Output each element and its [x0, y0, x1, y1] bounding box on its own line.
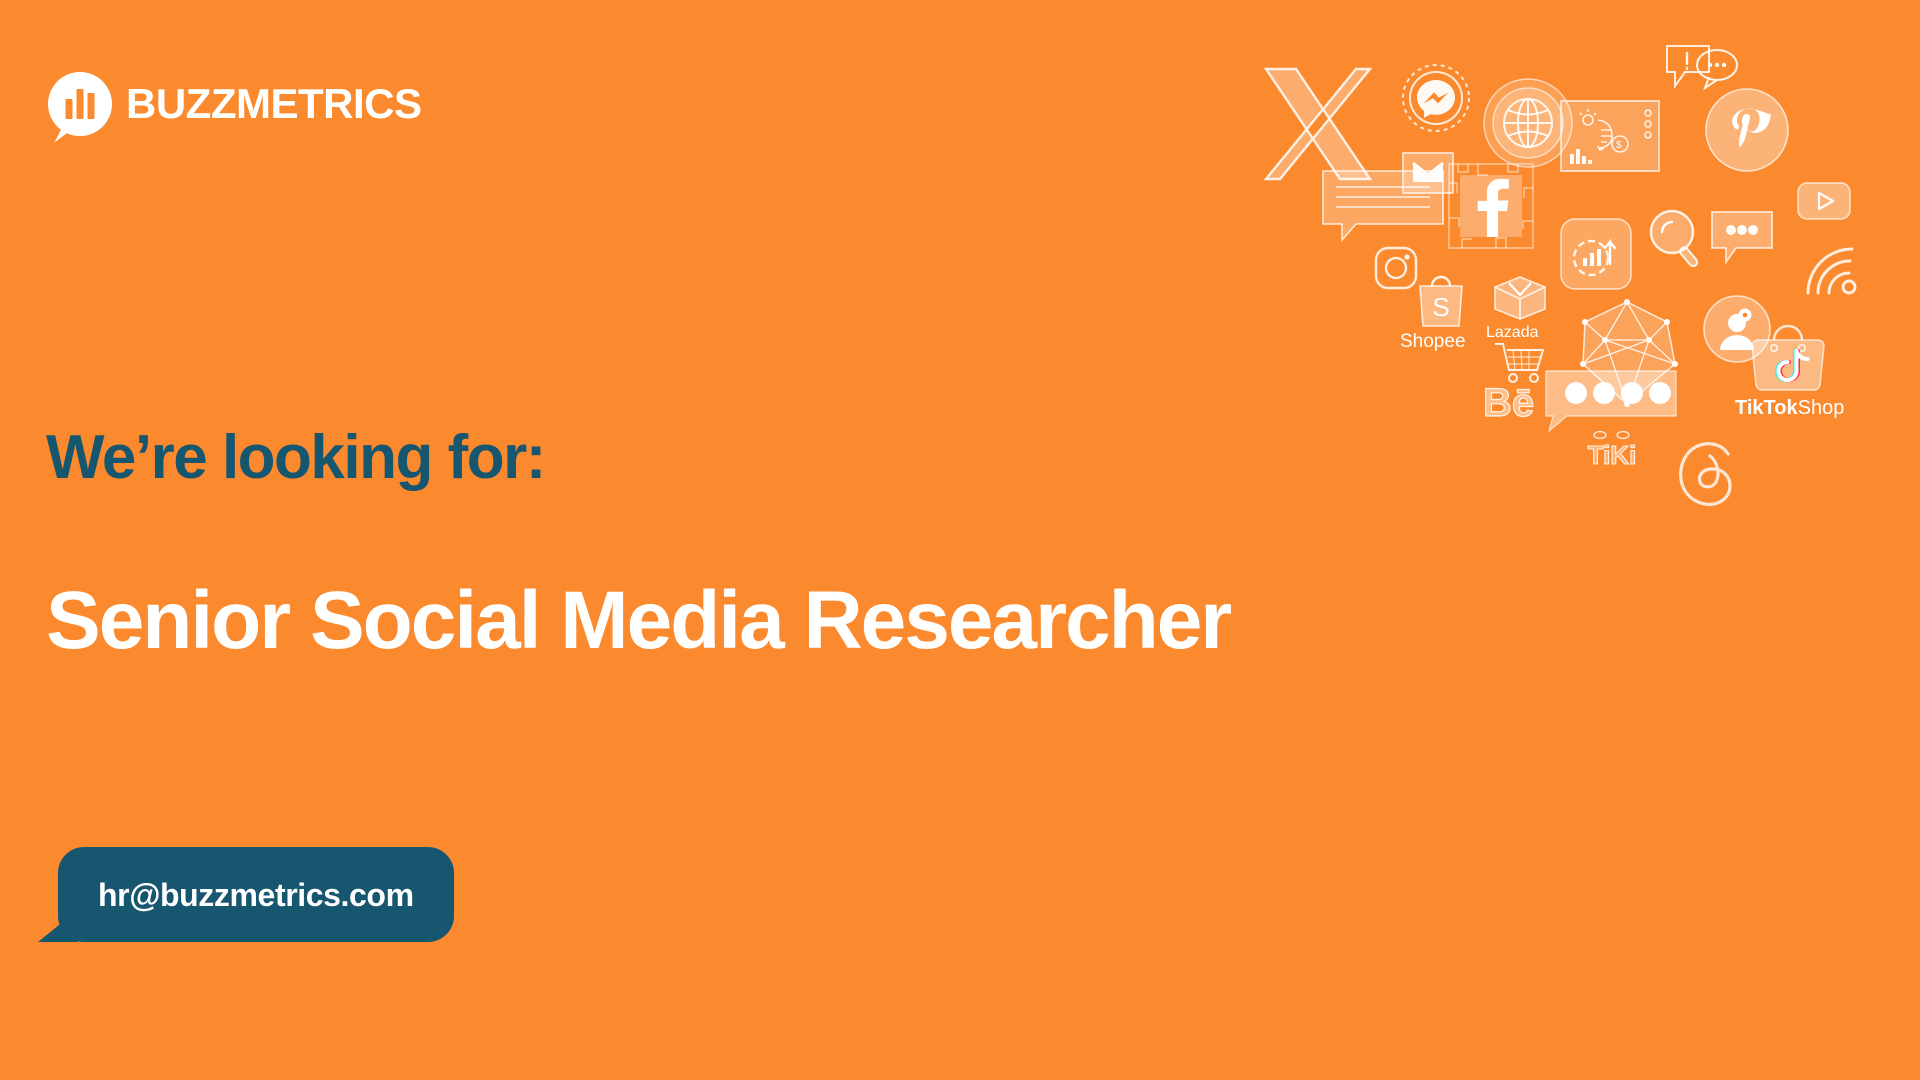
- pinterest-icon: [1705, 88, 1789, 172]
- brand-logo: BUZZMETRICS: [48, 72, 421, 136]
- logo-bars: [66, 89, 95, 119]
- shopee-bag-icon: S: [1414, 270, 1468, 328]
- dashboard-analytics-icon: $: [1560, 100, 1660, 172]
- network-polygon-icon: [1575, 300, 1679, 406]
- messenger-gear-icon: [1398, 60, 1474, 136]
- alert-chat-icon: [1665, 42, 1739, 96]
- youtube-icon: [1797, 182, 1851, 220]
- threads-icon: [1668, 430, 1750, 512]
- shopee-label: Shopee: [1400, 332, 1466, 351]
- tiktok-label-light: Shop: [1798, 397, 1845, 419]
- page-title: Senior Social Media Researcher: [46, 578, 1230, 664]
- buzzmetrics-bar-chart-speech-bubble-icon: [48, 72, 112, 136]
- tiki-icon: TiKi: [1583, 430, 1641, 468]
- lazada-box-icon: [1493, 275, 1547, 321]
- tiktok-label-bold: TikTok: [1735, 397, 1798, 419]
- email-bubble-tail: [38, 900, 78, 942]
- wifi-icon: [1802, 245, 1860, 299]
- svg-text:TiKi: TiKi: [1588, 440, 1637, 470]
- chat-dots-icon: [1710, 210, 1774, 268]
- behance-icon: Bē: [1483, 380, 1541, 424]
- user-settings-icon: [1703, 295, 1771, 363]
- hero-kicker: We’re looking for:: [46, 425, 545, 490]
- instagram-icon: [1374, 246, 1418, 290]
- shopping-cart-icon: [1493, 340, 1547, 384]
- dots-speech-bubble-icon: [1545, 370, 1677, 432]
- tiktok-shop-label: TikTokShop: [1735, 398, 1844, 418]
- tiktok-shop-bag-icon: [1750, 318, 1826, 392]
- svg-text:Bē: Bē: [1483, 381, 1534, 425]
- social-media-icon-collage: $: [1250, 30, 1910, 500]
- globe-icon: [1482, 77, 1574, 169]
- contact-email-badge[interactable]: hr@buzzmetrics.com: [58, 847, 454, 942]
- svg-text:S: S: [1432, 292, 1449, 322]
- magnifier-icon: [1648, 208, 1706, 268]
- x-twitter-icon: [1258, 65, 1378, 183]
- speech-bubble-lines-icon: [1322, 170, 1444, 242]
- brand-wordmark: BUZZMETRICS: [126, 83, 421, 125]
- gear-bar-chart-icon: [1560, 218, 1632, 290]
- envelope-icon: [1402, 152, 1454, 194]
- facebook-circuit-icon: [1448, 163, 1534, 249]
- svg-text:$: $: [1616, 140, 1622, 151]
- lazada-label: Lazada: [1486, 325, 1539, 341]
- contact-email-text: hr@buzzmetrics.com: [98, 877, 414, 913]
